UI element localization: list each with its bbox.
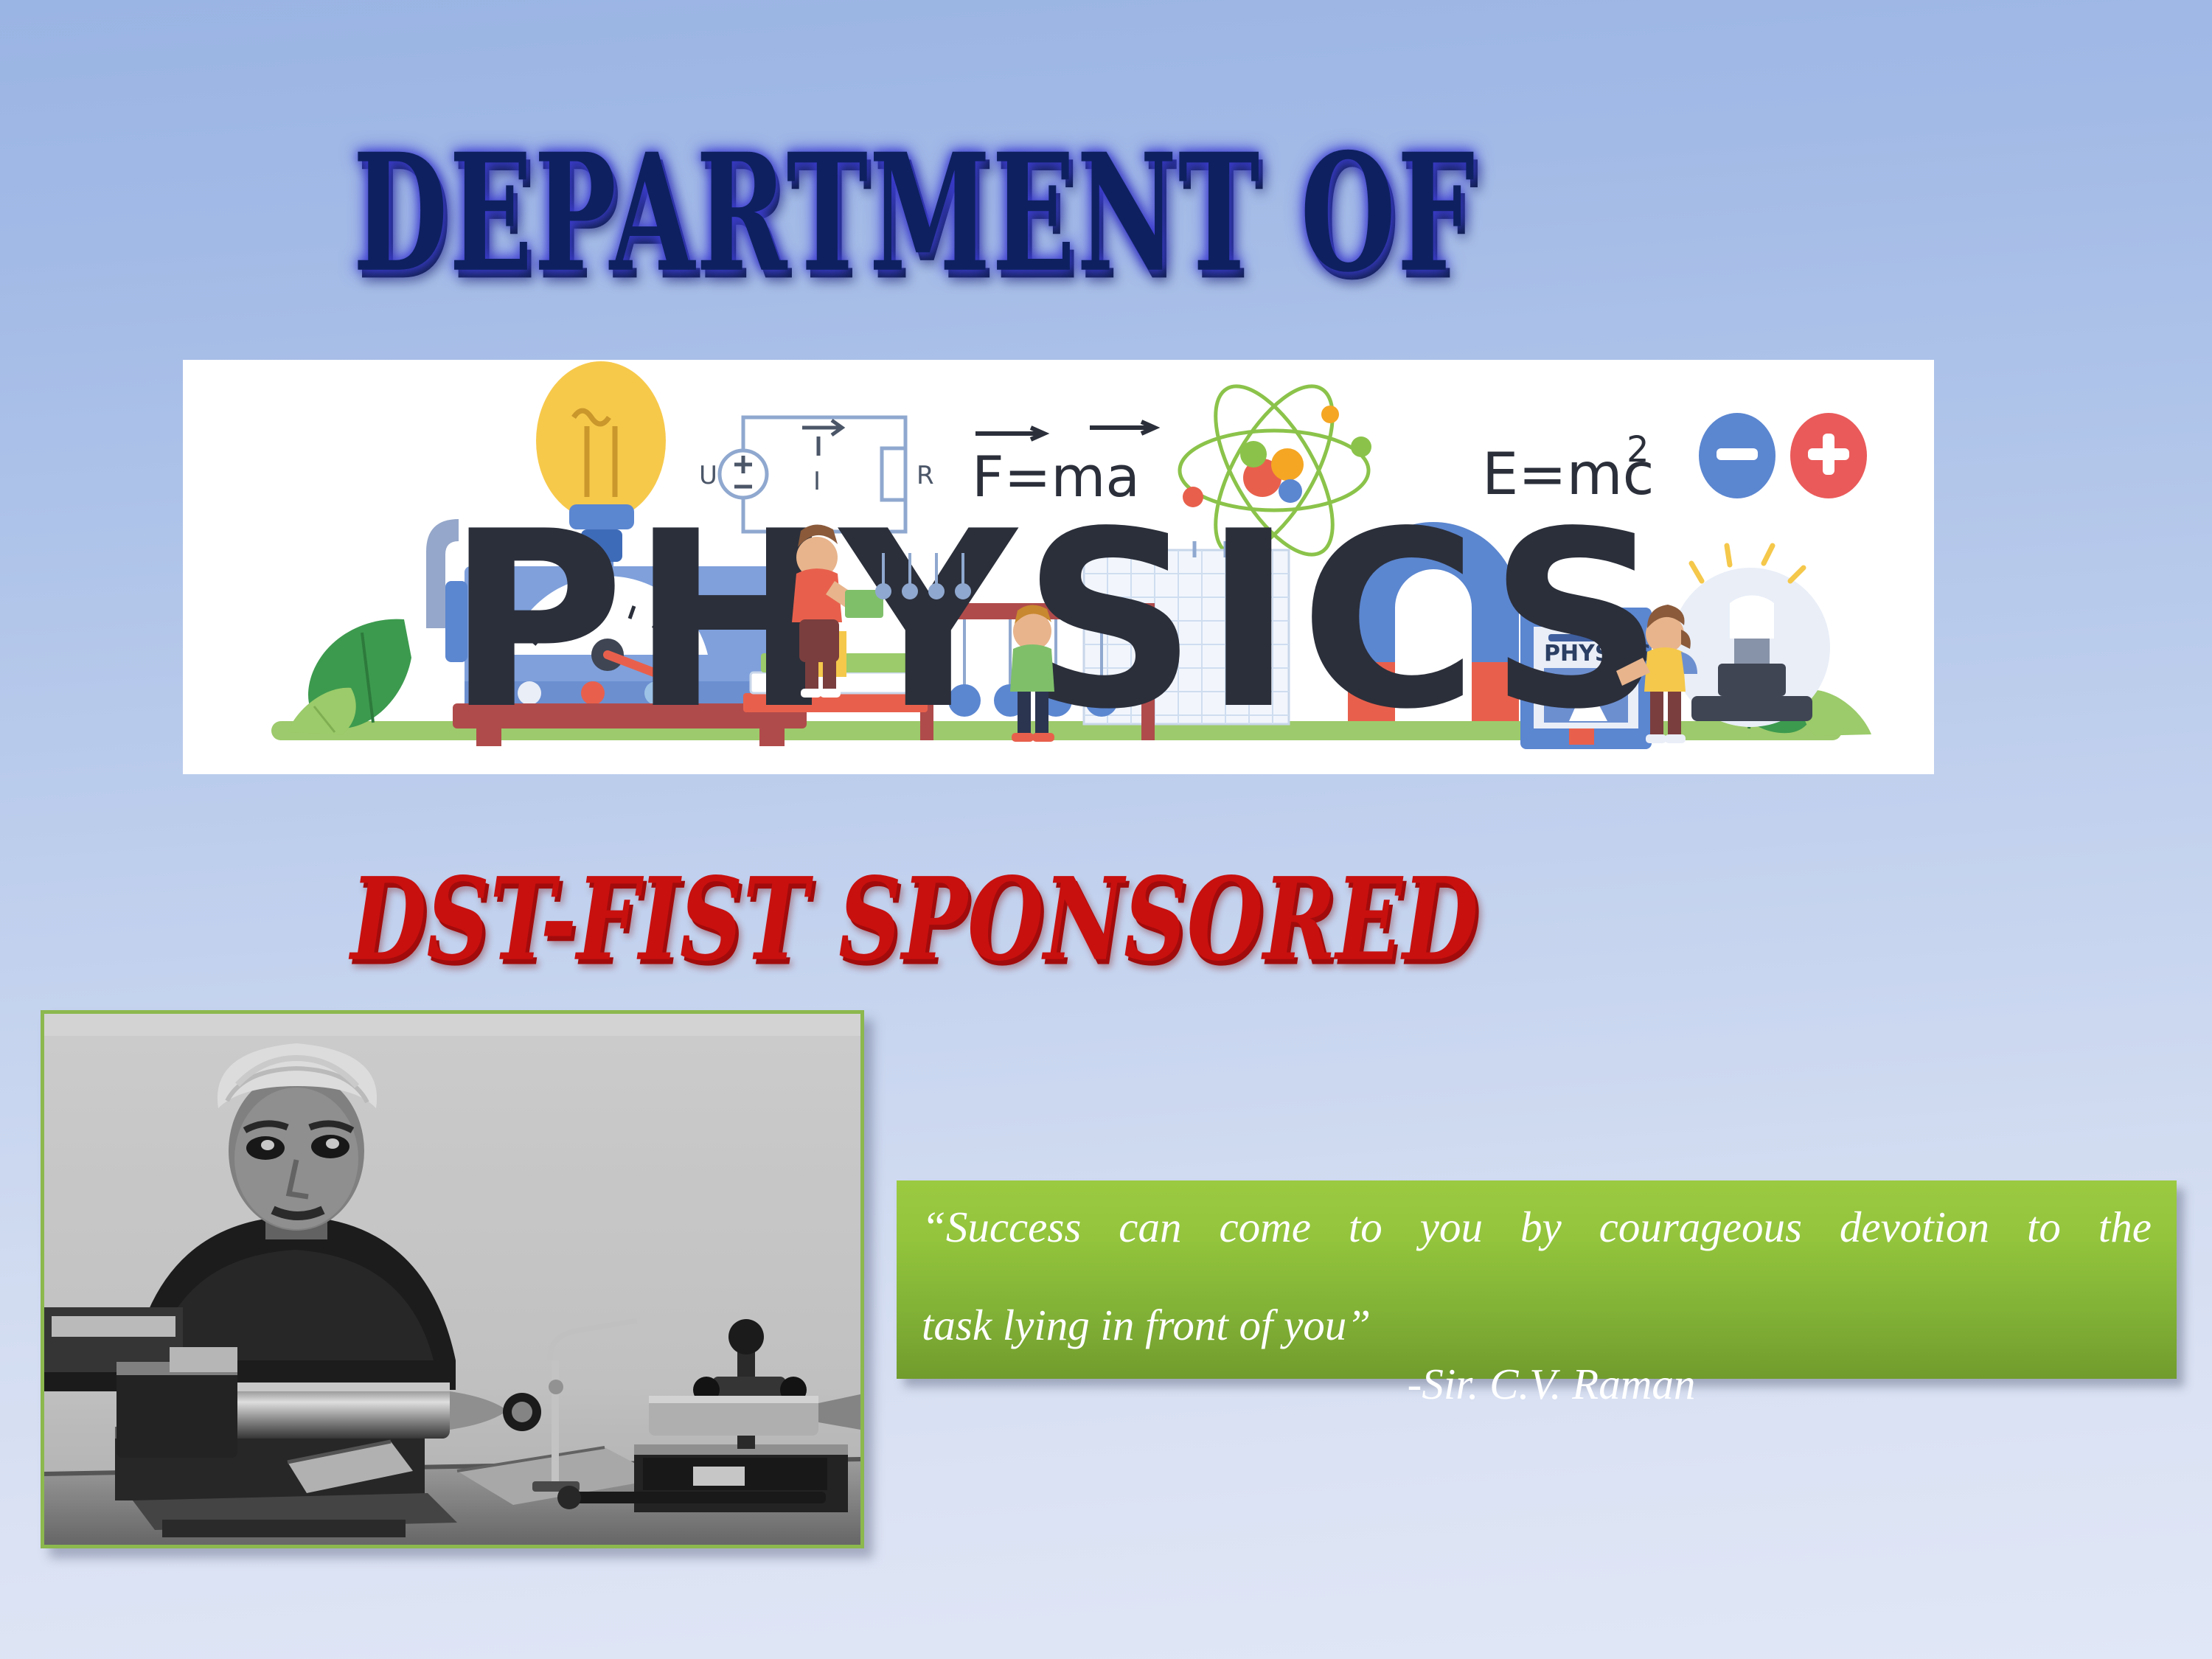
raman-photograph — [41, 1010, 864, 1548]
banner-word-physics: PHYSICS — [446, 479, 1669, 762]
physics-word-text: PHYSICS — [446, 479, 1669, 762]
raman-photo-illustration — [44, 1014, 860, 1545]
presentation-slide: DEPARTMENT OF — [0, 0, 2212, 1659]
sponsor-headline: DST-FIST SPONSORED — [350, 863, 1478, 977]
film-grain — [44, 1014, 860, 1545]
page-title: DEPARTMENT OF — [352, 132, 1475, 293]
quote-line-1: “Success can come to you by courageous d… — [922, 1203, 2152, 1301]
sponsor-headline-block: DST-FIST SPONSORED — [0, 869, 1829, 970]
physics-banner-image: U I R F=ma — [183, 360, 1934, 774]
quote-line-2: task lying in front of you” — [922, 1301, 2152, 1350]
quote-attribution: -Sir. C.V. Raman — [922, 1360, 2152, 1408]
physics-banner-illustration: U I R F=ma — [183, 360, 1934, 774]
slide-title-block: DEPARTMENT OF — [0, 145, 1829, 282]
formula-einstein-exponent: 2 — [1627, 429, 1649, 470]
quote-callout-box: “Success can come to you by courageous d… — [897, 1180, 2177, 1379]
